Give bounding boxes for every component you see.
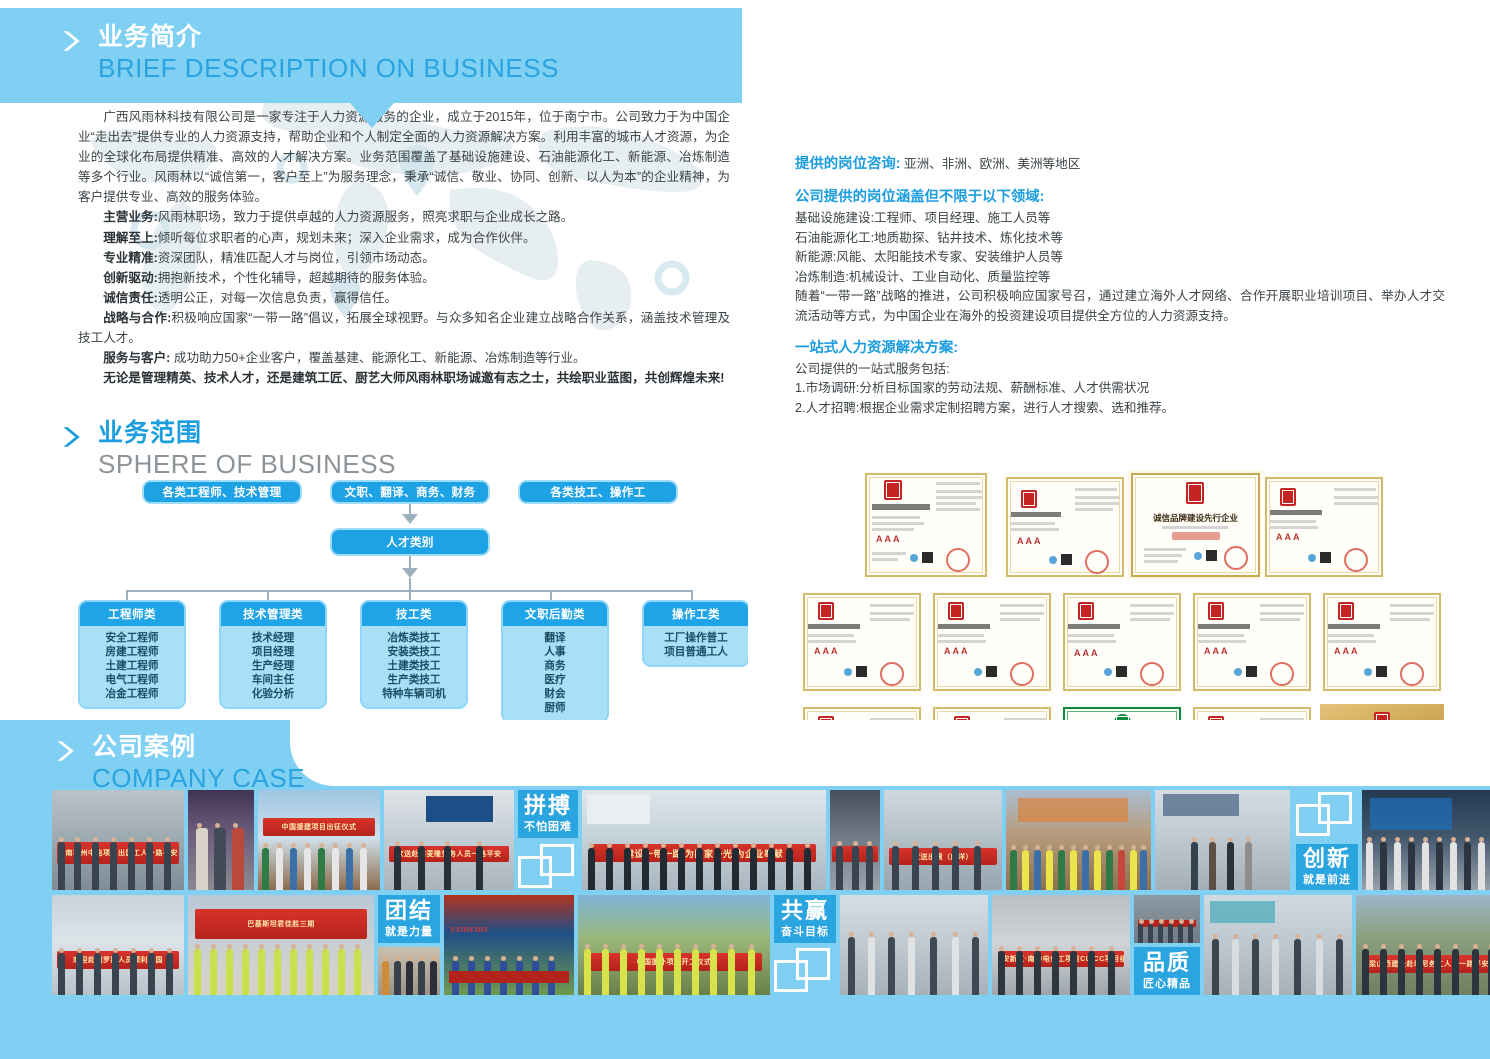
- photo-crowd: [582, 848, 826, 890]
- org-connector: [409, 590, 411, 600]
- slogan-big: 共赢: [781, 900, 829, 922]
- field-line: 石油能源化工:地质勘探、钻井技术、炼化技术等: [795, 229, 1445, 249]
- org-connector: [126, 590, 128, 600]
- job-consultation-value: 亚洲、非洲、欧洲、美洲等地区: [901, 157, 1081, 171]
- case-photo[interactable]: 欢送赴喀麦隆劳务人员一路平安: [384, 790, 514, 890]
- slogan-small: 匠心精品: [1143, 979, 1191, 990]
- photo-crowd: [378, 961, 440, 995]
- case-photo[interactable]: [378, 947, 440, 995]
- red-seal-icon: [1186, 482, 1204, 504]
- red-seal-icon: [1208, 602, 1224, 620]
- profile-point-label: 专业精准:: [103, 251, 158, 265]
- official-stamp-icon: [880, 662, 904, 686]
- cert-logo-icon: [1234, 668, 1242, 676]
- photo-banner-text: 中国援建项目出征仪式: [263, 818, 375, 836]
- chevron-right-icon: [58, 424, 84, 450]
- category-items: 翻译 人事 商务 医疗 财会 厨师: [503, 626, 607, 721]
- cert-logo-icon: [974, 668, 982, 676]
- category-title: 工程师类: [80, 602, 184, 626]
- business-title-cn: 业务简介: [98, 22, 559, 52]
- cert-title-block: [872, 504, 930, 510]
- category-item: 土建工程师: [80, 659, 184, 673]
- red-seal-icon: [1280, 488, 1296, 506]
- cert-logo-icon: [844, 668, 852, 676]
- slogan-small: 就是前进: [1303, 875, 1351, 886]
- fields-heading: 公司提供的岗位涵盖但不限于以下领域:: [795, 185, 1445, 209]
- cert-grade: AAA: [1276, 532, 1302, 542]
- square-logo-icon: [1296, 792, 1358, 838]
- profile-intro-paragraph: 广西风雨林科技有限公司是一家专注于人力资源服务的企业，成立于2015年，位于南宁…: [78, 107, 730, 207]
- case-photo[interactable]: [188, 790, 254, 890]
- official-stamp-icon: [1010, 662, 1034, 686]
- category-item: 人事: [503, 645, 607, 659]
- slogan-tile-struggle: 拼搏 不怕困难: [518, 790, 578, 838]
- cert-grade: AAA: [1204, 646, 1230, 656]
- case-photo[interactable]: yzmcms: [444, 895, 574, 995]
- official-stamp-icon: [946, 548, 970, 572]
- photo-crowd: [52, 842, 184, 890]
- company-profile-body: 广西风雨林科技有限公司是一家专注于人力资源服务的企业，成立于2015年，位于南宁…: [78, 107, 730, 388]
- cert-logo-icon: [1194, 552, 1202, 560]
- case-photo[interactable]: 中国援外项目开工仪式: [578, 895, 770, 995]
- photo-banner-text: 巴基斯坦君佳胜三期: [195, 909, 366, 939]
- case-photo[interactable]: [840, 895, 988, 995]
- business-banner: 业务简介 BRIEF DESCRIPTION ON BUSINESS: [0, 8, 742, 103]
- category-item: 项目普通工人: [644, 645, 748, 659]
- category-item: 技术经理: [221, 631, 325, 645]
- slogan-small: 就是力量: [385, 927, 433, 938]
- field-line: 冶炼制造:机械设计、工业自动化、质量监控等: [795, 268, 1445, 288]
- category-title: 技工类: [362, 602, 466, 626]
- business-title-en: BRIEF DESCRIPTION ON BUSINESS: [98, 52, 559, 84]
- case-photo[interactable]: 欢迎赴俄罗斯人员顺利归国: [52, 895, 184, 995]
- profile-point: 理解至上:倾听每位求职者的心声，规划未来；深入企业需求，成为合作伙伴。: [78, 228, 730, 248]
- case-photo[interactable]: [1155, 790, 1290, 890]
- profile-point-text: 成功助力50+企业客户，覆盖基建、能源化工、新能源、冶炼制造等行业。: [170, 351, 585, 365]
- cert-title: 诚信品牌建设先行企业: [1128, 512, 1263, 524]
- qr-code-icon: [1206, 550, 1217, 561]
- case-photo[interactable]: 河南林州中电项目出国工人一路平安: [52, 790, 184, 890]
- cert-grade: AAA: [876, 534, 902, 544]
- profile-closing: 无论是管理精英、技术人才，还是建筑工匠、厨艺大师风雨林职场诚邀有志之士，共绘职业…: [78, 368, 730, 388]
- photo-crowd: [188, 828, 254, 890]
- category-items: 冶炼类技工 安装类技工 土建类技工 生产类技工 特种车辆司机: [362, 626, 466, 707]
- photo-crowd: [884, 846, 1002, 890]
- cert-grade: AAA: [944, 646, 970, 656]
- red-seal-icon: [1021, 490, 1037, 508]
- official-stamp-icon: [1400, 662, 1424, 686]
- onestop-heading: 一站式人力资源解决方案:: [795, 336, 1445, 360]
- profile-point-text: 倾听每位求职者的心声，规划未来；深入企业需求，成为合作伙伴。: [158, 231, 536, 245]
- org-connector: [409, 578, 411, 590]
- certificates-grid: AAA AAA: [800, 462, 1440, 762]
- company-case-title-cn: 公司案例: [92, 732, 305, 762]
- category-item: 安全工程师: [80, 631, 184, 645]
- certificate-card[interactable]: AAA: [1003, 474, 1127, 580]
- red-seal-icon: [1078, 602, 1094, 620]
- category-item: 生产经理: [221, 659, 325, 673]
- slogan-big: 团结: [385, 900, 433, 922]
- official-stamp-icon: [1224, 546, 1248, 570]
- org-top-box-engineers[interactable]: 各类工程师、技术管理: [142, 480, 302, 504]
- qr-code-icon: [856, 666, 867, 677]
- profile-point-text: 风雨林职场，致力于提供卓越的人力资源服务，照亮求职与企业成长之路。: [158, 210, 574, 224]
- org-top-box-clerical[interactable]: 文职、翻译、商务、财务: [330, 480, 490, 504]
- org-connector: [267, 590, 269, 600]
- category-item: 冶炼类技工: [362, 631, 466, 645]
- org-center-box-talent-category[interactable]: 人才类别: [330, 528, 490, 556]
- org-connector: [550, 590, 552, 600]
- certificate-card[interactable]: AAA: [1320, 590, 1444, 694]
- qr-code-icon: [1061, 554, 1072, 565]
- photo-crowd: [384, 846, 514, 890]
- category-item: 特种车辆司机: [362, 687, 466, 701]
- job-consultation-line: 提供的岗位咨询: 亚洲、非洲、欧洲、美洲等地区: [795, 152, 1445, 176]
- case-photo[interactable]: 中国援建项目出征仪式: [258, 790, 380, 890]
- cert-grade: AAA: [1017, 536, 1043, 546]
- sphere-title-cn: 业务范围: [98, 418, 396, 448]
- case-photo[interactable]: [830, 790, 880, 890]
- photo-crowd: [1134, 924, 1200, 943]
- cert-logo-icon: [1364, 668, 1372, 676]
- cert-logo-icon: [910, 554, 918, 562]
- category-item: 土建类技工: [362, 659, 466, 673]
- certificate-card[interactable]: AAA: [862, 470, 990, 580]
- photo-crowd: [840, 937, 988, 995]
- slogan-tile-winwin: 共赢 奋斗目标: [774, 895, 836, 943]
- photo-crowd: [188, 949, 374, 995]
- red-seal-icon: [884, 480, 902, 500]
- belt-road-paragraph: 随着“一带一路”战略的推进，公司积极响应国家号召，通过建立海外人才网络、合作开展…: [795, 287, 1445, 326]
- case-photo[interactable]: 梁山西建赴赴印尼务工人员一路平安: [1356, 895, 1490, 995]
- photo-crowd: [1155, 842, 1290, 890]
- slogan-small: 奋斗目标: [781, 927, 829, 938]
- official-stamp-icon: [1085, 550, 1109, 574]
- case-photo[interactable]: [1006, 790, 1151, 890]
- category-item: 车间主任: [221, 673, 325, 687]
- brochure-page: 公司简介 COMPANY PROFILE 广西风雨林科技有限公司是一家专注于人力…: [0, 0, 1490, 1059]
- case-photo[interactable]: 建设一带一路 为国家争光 为企业奉献: [582, 790, 826, 890]
- certificate-card-honor[interactable]: 诚信品牌建设先行企业: [1128, 470, 1263, 580]
- category-item: 财会: [503, 687, 607, 701]
- qr-code-icon: [922, 552, 933, 563]
- business-body: 提供的岗位咨询: 亚洲、非洲、欧洲、美洲等地区 公司提供的岗位涵盖但不限于以下领…: [795, 152, 1445, 418]
- slogan-tile-innovation: 创新 就是前进: [1296, 844, 1358, 890]
- case-photo[interactable]: 巴基斯坦君佳胜三期: [188, 895, 374, 995]
- onestop-item: 1.市场调研:分析目标国家的劳动法规、薪酬标准、人才供需状况: [795, 379, 1445, 399]
- profile-point-label: 主营业务:: [103, 210, 158, 224]
- category-items: 工厂操作普工 项目普通工人: [644, 626, 748, 665]
- talent-category-org-chart: 各类工程师、技术管理 文职、翻译、商务、财务 各类技工、操作工 人才类别 工程师…: [78, 480, 718, 705]
- qr-code-icon: [1246, 666, 1257, 677]
- profile-point-label: 创新驱动:: [103, 271, 158, 285]
- certificate-card[interactable]: AAA: [1060, 590, 1184, 694]
- category-item: 化验分析: [221, 687, 325, 701]
- certificate-card[interactable]: AAA: [800, 590, 924, 694]
- profile-point-text: 资深团队，精准匹配人才与岗位，引领市场动态。: [158, 251, 435, 265]
- profile-point-text: 拥抱新技术，个性化辅导，超越期待的服务体验。: [158, 271, 435, 285]
- job-consultation-label: 提供的岗位咨询:: [795, 156, 901, 172]
- category-item: 冶金工程师: [80, 687, 184, 701]
- photo-signboard: [426, 796, 494, 822]
- category-items: 技术经理 项目经理 生产经理 车间主任 化验分析: [221, 626, 325, 707]
- profile-point-label: 诚信责任:: [103, 291, 158, 305]
- banner-notch: [350, 103, 394, 128]
- category-item: 电气工程师: [80, 673, 184, 687]
- official-stamp-icon: [1344, 548, 1368, 572]
- profile-point-label: 战略与合作:: [103, 311, 171, 325]
- category-card-engineers[interactable]: 工程师类 安全工程师 房建工程师 土建工程师 电气工程师 冶金工程师: [78, 600, 186, 709]
- profile-point-text: 透明公正，对每一次信息负责，赢得信任。: [158, 291, 397, 305]
- watermark-text: yzmcms: [450, 923, 488, 935]
- category-card-operators[interactable]: 操作工类 工厂操作普工 项目普通工人: [642, 600, 750, 667]
- onestop-lead: 公司提供的一站式服务包括:: [795, 360, 1445, 380]
- slogan-tile-unity: 团结 就是力量: [378, 895, 440, 943]
- company-case-header: 公司案例 COMPANY CASE: [52, 732, 305, 794]
- category-item: 医疗: [503, 673, 607, 687]
- category-item: 房建工程师: [80, 645, 184, 659]
- sphere-of-business-header: 业务范围 SPHERE OF BUSINESS: [58, 418, 396, 480]
- cert-grade: AAA: [1074, 648, 1100, 658]
- cert-logo-icon: [1104, 668, 1112, 676]
- certificate-card[interactable]: AAA: [1262, 474, 1386, 580]
- square-logo-icon: [518, 844, 580, 890]
- onestop-item: 2.人才招聘:根据企业需求定制招聘方案，进行人才搜索、选和推荐。: [795, 399, 1445, 419]
- category-item: 安装类技工: [362, 645, 466, 659]
- cert-logo-icon: [1308, 554, 1316, 562]
- category-card-technicians[interactable]: 技工类 冶炼类技工 安装类技工 土建类技工 生产类技工 特种车辆司机: [360, 600, 468, 709]
- photo-crowd: [1204, 939, 1352, 995]
- case-photo[interactable]: 欢送出境（南洋）: [884, 790, 1002, 890]
- case-photo[interactable]: [1134, 895, 1200, 943]
- official-stamp-icon: [1270, 662, 1294, 686]
- category-title: 技术管理类: [221, 602, 325, 626]
- category-item: 工厂操作普工: [644, 631, 748, 645]
- photo-crowd: [1006, 850, 1151, 890]
- profile-point: 专业精准:资深团队，精准匹配人才与岗位，引领市场动态。: [78, 248, 730, 268]
- photo-crowd: [992, 951, 1130, 995]
- red-seal-icon: [818, 602, 834, 620]
- slogan-small: 不怕困难: [524, 822, 572, 833]
- org-arrow-down-icon: [402, 568, 418, 578]
- case-photo[interactable]: [1362, 790, 1490, 890]
- category-item: 项目经理: [221, 645, 325, 659]
- slogan-tile-quality: 品质 匠心精品: [1134, 947, 1200, 995]
- profile-point: 诚信责任:透明公正，对每一次信息负责，赢得信任。: [78, 288, 730, 308]
- sphere-title-en: SPHERE OF BUSINESS: [98, 448, 396, 480]
- profile-point: 主营业务:风雨林职场，致力于提供卓越的人力资源服务，照亮求职与企业成长之路。: [78, 207, 730, 227]
- photo-crowd: [1362, 842, 1490, 890]
- org-connector: [691, 590, 693, 600]
- chevron-right-icon: [58, 28, 84, 54]
- profile-point: 服务与客户: 成功助力50+企业客户，覆盖基建、能源化工、新能源、冶炼制造等行业…: [78, 348, 730, 368]
- slogan-big: 创新: [1303, 848, 1351, 870]
- chevron-right-icon: [52, 738, 78, 764]
- qr-code-icon: [1320, 552, 1331, 563]
- case-photo[interactable]: [1204, 895, 1352, 995]
- cert-grade: AAA: [1334, 646, 1360, 656]
- category-item: 厨师: [503, 701, 607, 715]
- qr-code-icon: [986, 666, 997, 677]
- photo-crowd: [578, 949, 770, 995]
- category-title: 文职后勤类: [503, 602, 607, 626]
- photo-crowd: [1356, 949, 1490, 995]
- category-items: 安全工程师 房建工程师 土建工程师 电气工程师 冶金工程师: [80, 626, 184, 707]
- profile-point: 创新驱动:拥抱新技术，个性化辅导，超越期待的服务体验。: [78, 268, 730, 288]
- qr-code-icon: [1116, 666, 1127, 677]
- slogan-big: 拼搏: [524, 795, 572, 817]
- case-photo[interactable]: 贵安新区·南中电化工项目CUICC项目组: [992, 895, 1130, 995]
- profile-point: 战略与合作:积极响应国家“一带一路”倡议，拓展全球视野。与众多知名企业建立战略合…: [78, 308, 730, 348]
- case-photo-gallery: 河南林州中电项目出国工人一路平安 中国援建项目出征仪式: [52, 790, 1452, 1016]
- org-arrow-down-icon: [402, 514, 418, 524]
- slogan-big: 品质: [1143, 952, 1191, 974]
- category-title: 操作工类: [644, 602, 748, 626]
- category-item: 生产类技工: [362, 673, 466, 687]
- category-card-tech-management[interactable]: 技术管理类 技术经理 项目经理 生产经理 车间主任 化验分析: [219, 600, 327, 709]
- category-card-clerical-logistics[interactable]: 文职后勤类 翻译 人事 商务 医疗 财会 厨师: [501, 600, 609, 723]
- profile-point-label: 服务与客户:: [103, 351, 170, 365]
- profile-point-label: 理解至上:: [103, 231, 158, 245]
- category-item: 翻译: [503, 631, 607, 645]
- banner-white-cut: [290, 720, 1490, 786]
- category-item: 商务: [503, 659, 607, 673]
- profile-point-text: 积极响应国家“一带一路”倡议，拓展全球视野。与众多知名企业建立战略合作关系，涵盖…: [78, 311, 730, 345]
- certificate-card[interactable]: AAA: [1190, 590, 1314, 694]
- red-seal-icon: [1338, 602, 1354, 620]
- cert-grade: AAA: [814, 646, 840, 656]
- official-stamp-icon: [1140, 662, 1164, 686]
- square-logo-icon: [774, 948, 836, 994]
- photo-crowd: [258, 848, 380, 890]
- photo-crowd: [830, 846, 880, 890]
- red-seal-icon: [948, 602, 964, 620]
- field-line: 基础设施建设:工程师、项目经理、施工人员等: [795, 209, 1445, 229]
- photo-crowd: [52, 953, 184, 995]
- certificate-card[interactable]: AAA: [930, 590, 1054, 694]
- business-header: 业务简介 BRIEF DESCRIPTION ON BUSINESS: [58, 22, 559, 84]
- org-top-box-technicians[interactable]: 各类技工、操作工: [518, 480, 678, 504]
- cert-logo-icon: [1049, 556, 1057, 564]
- field-line: 新能源:风能、太阳能技术专家、安装维护人员等: [795, 248, 1445, 268]
- qr-code-icon: [1376, 666, 1387, 677]
